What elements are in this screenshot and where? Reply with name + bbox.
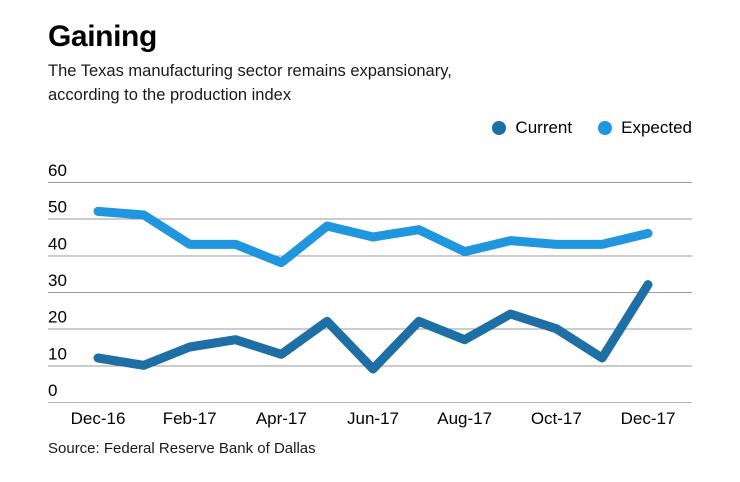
y-tick-label: 50: [48, 198, 67, 217]
gridlines: [48, 183, 692, 403]
y-tick-label: 40: [48, 234, 67, 253]
legend-item-current: Current: [492, 118, 572, 138]
series-line-current: [98, 285, 648, 369]
source-note: Source: Federal Reserve Bank of Dallas: [48, 440, 316, 457]
x-tick-label: Oct-17: [531, 409, 582, 428]
chart-subtitle: The Texas manufacturing sector remains e…: [48, 60, 688, 108]
circle-marker-icon: [598, 121, 612, 135]
x-tick-label: Jun-17: [347, 409, 399, 428]
y-tick-label: 0: [48, 381, 57, 400]
y-axis-tick-labels: 0102030405060: [48, 161, 67, 400]
series-line-expected: [98, 211, 648, 262]
legend-label-current: Current: [515, 118, 572, 138]
x-tick-label: Dec-16: [71, 409, 126, 428]
y-tick-label: 10: [48, 344, 67, 363]
y-tick-label: 60: [48, 161, 67, 180]
x-axis-tick-labels: Dec-16Feb-17Apr-17Jun-17Aug-17Oct-17Dec-…: [71, 409, 676, 428]
subtitle-line-2: according to the production index: [48, 84, 688, 108]
chart-legend: Current Expected: [492, 118, 692, 138]
data-series: [98, 211, 648, 369]
legend-label-expected: Expected: [621, 118, 692, 138]
x-tick-label: Apr-17: [256, 409, 307, 428]
x-tick-label: Feb-17: [163, 409, 217, 428]
y-tick-label: 20: [48, 308, 67, 327]
subtitle-line-1: The Texas manufacturing sector remains e…: [48, 60, 688, 84]
x-tick-label: Aug-17: [437, 409, 492, 428]
chart-page: Gaining The Texas manufacturing sector r…: [0, 0, 740, 482]
page-title: Gaining: [48, 20, 157, 53]
x-tick-label: Dec-17: [621, 409, 676, 428]
y-tick-label: 30: [48, 271, 67, 290]
legend-item-expected: Expected: [598, 118, 692, 138]
circle-marker-icon: [492, 121, 506, 135]
